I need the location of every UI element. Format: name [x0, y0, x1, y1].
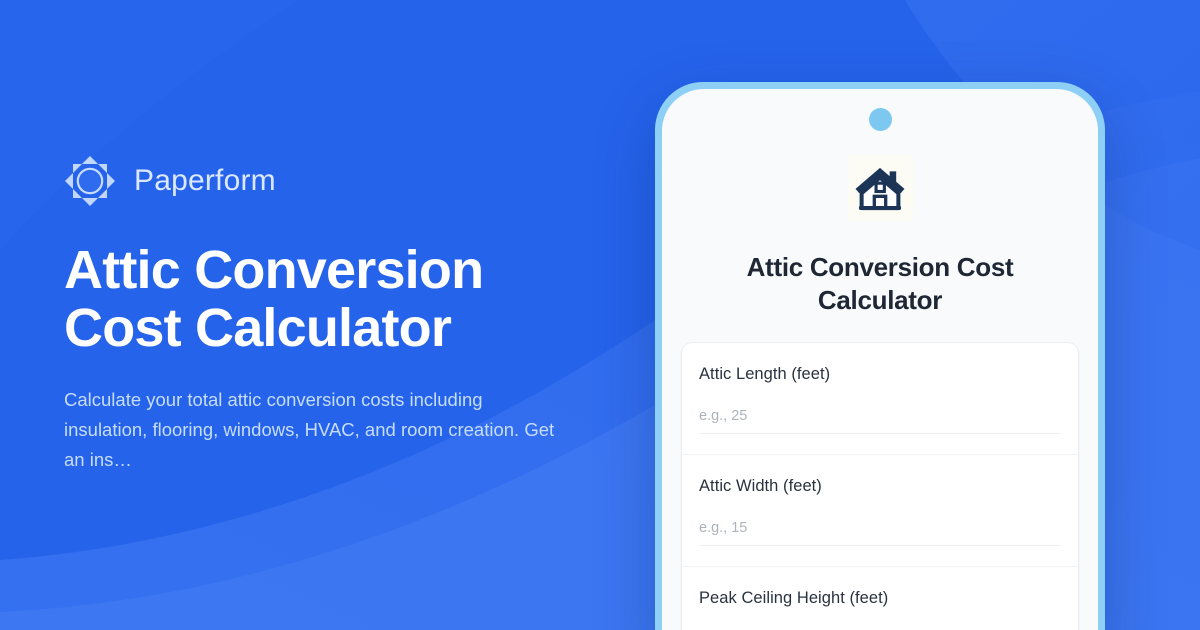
- app-icon-container: [847, 155, 913, 221]
- form-field-peak-ceiling-height: Peak Ceiling Height (feet): [682, 567, 1078, 612]
- camera-dot-icon: [869, 108, 892, 131]
- attic-length-input[interactable]: e.g., 25: [699, 408, 1061, 434]
- phone-screen: Attic Conversion Cost Calculator Attic L…: [662, 89, 1098, 630]
- field-label: Attic Length (feet): [699, 365, 1061, 384]
- phone-mockup: Attic Conversion Cost Calculator Attic L…: [655, 82, 1105, 630]
- form-card: Attic Length (feet) e.g., 25 Attic Width…: [682, 343, 1078, 630]
- form-field-attic-length: Attic Length (feet) e.g., 25: [682, 343, 1078, 455]
- field-label: Peak Ceiling Height (feet): [699, 589, 1061, 608]
- form-field-attic-width: Attic Width (feet) e.g., 15: [682, 455, 1078, 567]
- hero-description: Calculate your total attic conversion co…: [64, 385, 569, 475]
- house-icon: [852, 160, 908, 216]
- brand-name: Paperform: [134, 164, 276, 198]
- brand-lockup: Paperform: [64, 155, 664, 207]
- field-label: Attic Width (feet): [699, 477, 1061, 496]
- attic-width-input[interactable]: e.g., 15: [699, 520, 1061, 546]
- page-title: Attic Conversion Cost Calculator: [64, 241, 609, 358]
- paperform-star-logo-icon: [64, 155, 116, 207]
- hero-content: Paperform Attic Conversion Cost Calculat…: [64, 0, 664, 630]
- app-title: Attic Conversion Cost Calculator: [715, 251, 1045, 317]
